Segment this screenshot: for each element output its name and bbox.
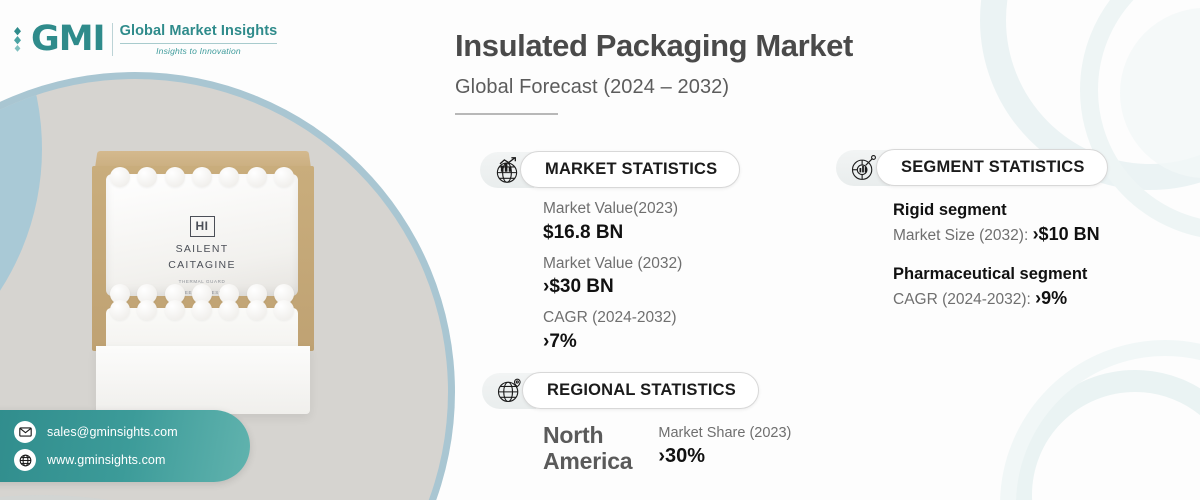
foam-bubble: [165, 167, 185, 187]
segment-1-metric-value: ›$10 BN: [1033, 224, 1100, 244]
bottom-right-arc-inner: [1000, 340, 1200, 500]
foam-bubble: [274, 300, 294, 320]
foam-insert-top: HI SAILENT CAITAGINE THERMAL GUARD KEEP …: [106, 174, 298, 296]
title-underline: [455, 113, 558, 115]
foam-bubble: [192, 300, 212, 320]
foam-bubble-row-top: [106, 167, 298, 187]
foam-brand-line-1: SAILENT: [106, 242, 298, 258]
region-share-value: ›30%: [658, 443, 791, 470]
segment-statistics-values: Rigid segment Market Size (2032): ›$10 B…: [893, 199, 1100, 328]
segment-2-title: Pharmaceutical segment: [893, 263, 1100, 286]
logo-tagline: Insights to Innovation: [120, 46, 278, 56]
contact-website-row[interactable]: www.gminsights.com: [14, 449, 250, 471]
header-block: Insulated Packaging Market Global Foreca…: [455, 28, 853, 115]
segment-1-row: Market Size (2032): ›$10 BN: [893, 222, 1100, 247]
region-share-label: Market Share (2023): [658, 423, 791, 443]
infographic-canvas: HI SAILENT CAITAGINE THERMAL GUARD KEEP …: [0, 0, 1200, 500]
foam-bubble: [274, 167, 294, 187]
contact-pill: sales@gminsights.com www.gminsights.com: [0, 410, 250, 482]
regional-statistics-values: North America Market Share (2023) ›30%: [543, 423, 791, 475]
foam-bubble: [247, 300, 267, 320]
market-statistics-header: MARKET STATISTICS: [480, 151, 740, 188]
foam-bubble-row-lower: [106, 300, 298, 320]
segment-2-metric-label: CAGR (2024-2032):: [893, 291, 1035, 308]
left-circle-bottom-fade: [0, 495, 302, 500]
contact-email-row[interactable]: sales@gminsights.com: [14, 421, 250, 443]
market-value-2023-value: $16.8 BN: [543, 220, 682, 246]
market-value-2032-value: ›$30 BN: [543, 274, 682, 300]
segment-statistics-header: SEGMENT STATISTICS: [836, 149, 1108, 186]
foam-logo-mark: HI: [190, 216, 215, 237]
region-name-line-2: America: [543, 449, 632, 475]
segment-statistics-label: SEGMENT STATISTICS: [876, 149, 1108, 186]
segment-2-metric-value: ›9%: [1035, 288, 1067, 308]
regional-statistics-label: REGIONAL STATISTICS: [522, 372, 759, 409]
market-value-2032-label: Market Value (2032): [543, 254, 682, 275]
foam-bubble: [110, 167, 130, 187]
market-statistics-values: Market Value(2023) $16.8 BN Market Value…: [543, 199, 682, 363]
left-circle-teal-wedge: [0, 79, 42, 409]
page-subtitle: Global Forecast (2024 – 2032): [455, 76, 853, 99]
box-interior: HI SAILENT CAITAGINE THERMAL GUARD KEEP …: [92, 166, 314, 351]
market-cagr-value: ›7%: [543, 329, 682, 355]
foam-bubble: [165, 300, 185, 320]
contact-email-text: sales@gminsights.com: [47, 425, 178, 439]
foam-bubble: [110, 300, 130, 320]
segment-1-metric-label: Market Size (2032):: [893, 227, 1033, 244]
region-row: North America Market Share (2023) ›30%: [543, 423, 791, 475]
contact-website-text: www.gminsights.com: [47, 453, 166, 467]
market-statistics-label: MARKET STATISTICS: [520, 151, 740, 188]
region-name: North America: [543, 423, 632, 475]
logo-diamond-icon: [12, 27, 23, 53]
region-name-line-1: North: [543, 423, 632, 449]
region-share-block: Market Share (2023) ›30%: [658, 423, 791, 470]
foam-bubble: [192, 167, 212, 187]
logo-text-block: Global Market Insights Insights to Innov…: [112, 23, 278, 56]
market-value-2023-label: Market Value(2023): [543, 199, 682, 220]
market-cagr-label: CAGR (2024-2032): [543, 308, 682, 329]
logo-divider: [120, 43, 278, 44]
foam-bubble: [219, 167, 239, 187]
product-photo: HI SAILENT CAITAGINE THERMAL GUARD KEEP …: [88, 150, 318, 415]
foam-brand-line-2: CAITAGINE: [106, 258, 298, 274]
box-front-panel: [96, 346, 310, 414]
globe-icon: [14, 449, 36, 471]
foam-bubble: [247, 167, 267, 187]
logo-wordmark: GMI: [31, 22, 105, 57]
segment-1-title: Rigid segment: [893, 199, 1100, 222]
envelope-icon: [14, 421, 36, 443]
page-title: Insulated Packaging Market: [455, 28, 853, 64]
gmi-logo[interactable]: GMI Global Market Insights Insights to I…: [12, 22, 277, 57]
top-right-circle-blob: [1120, 8, 1200, 178]
foam-bubble: [137, 167, 157, 187]
foam-bubble: [137, 300, 157, 320]
foam-bubble: [219, 300, 239, 320]
bottom-right-arc-outer: [1010, 370, 1200, 500]
logo-company-name: Global Market Insights: [120, 23, 278, 40]
regional-statistics-header: REGIONAL STATISTICS: [482, 372, 759, 409]
segment-2-row: CAGR (2024-2032): ›9%: [893, 286, 1100, 311]
